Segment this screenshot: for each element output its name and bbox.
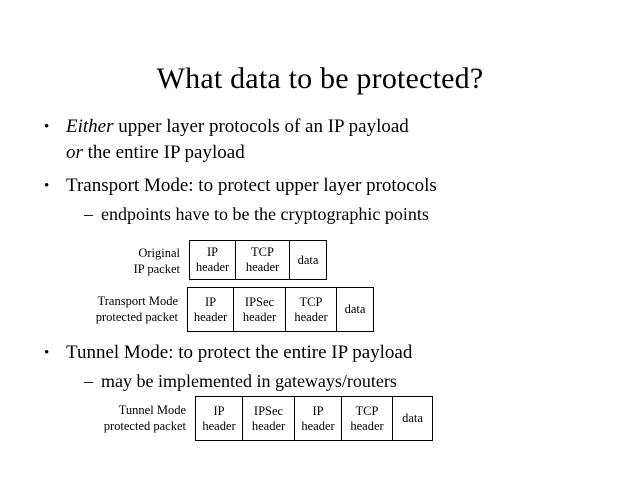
packet-diagram-original-label: Original IP packet	[14, 240, 189, 277]
packet-cell-line1: IP	[213, 404, 224, 419]
packet-cell-outer-ip-header: IP header	[195, 396, 243, 441]
slide-canvas: What data to be protected? • Either uppe…	[0, 0, 640, 480]
bullet-item-either: • Either upper layer protocols of an IP …	[44, 114, 604, 166]
packet-cell-line1: TCP	[356, 404, 379, 419]
packet-label-line2: protected packet	[14, 418, 186, 434]
bullet-item-tunnel-mode: • Tunnel Mode: to protect the entire IP …	[44, 340, 604, 366]
packet-cell-line1: data	[298, 253, 319, 268]
bullet-either-line1-rest: upper layer protocols of an IP payload	[114, 116, 409, 137]
packet-cell-tcp-header: TCP header	[341, 396, 393, 441]
bullet-marker-icon: •	[44, 114, 66, 140]
packet-cell-inner-ip-header: IP header	[294, 396, 342, 441]
packet-cell-line2: header	[194, 310, 227, 325]
bullet-item-transport-mode-text: Transport Mode: to protect upper layer p…	[66, 173, 604, 199]
bullet-item-either-text: Either upper layer protocols of an IP pa…	[66, 114, 604, 166]
bullet-either-line2-italic: or	[66, 142, 83, 163]
sub-bullet-item-gateways-text: may be implemented in gateways/routers	[101, 369, 624, 394]
packet-diagram-transport-mode-table: IP header IPSec header TCP header data	[187, 287, 374, 332]
packet-label-line1: Tunnel Mode	[14, 402, 186, 418]
packet-cell-line2: header	[246, 260, 279, 275]
dash-marker-icon: –	[84, 369, 101, 394]
packet-cell-line2: header	[243, 310, 276, 325]
packet-cell-line1: IP	[312, 404, 323, 419]
packet-label-line1: Original	[14, 245, 180, 261]
packet-cell-tcp-header: TCP header	[235, 240, 290, 280]
sub-bullet-item-endpoints-text: endpoints have to be the cryptographic p…	[101, 202, 624, 227]
packet-cell-line2: header	[294, 310, 327, 325]
packet-label-line2: IP packet	[14, 261, 180, 277]
packet-cell-line2: header	[202, 419, 235, 434]
packet-cell-line1: IP	[205, 295, 216, 310]
packet-cell-line1: TCP	[251, 245, 274, 260]
packet-diagram-tunnel-mode-label: Tunnel Mode protected packet	[14, 396, 195, 434]
packet-cell-line2: header	[350, 419, 383, 434]
packet-cell-ipsec-header: IPSec header	[233, 287, 286, 332]
packet-cell-line2: header	[196, 260, 229, 275]
packet-cell-tcp-header: TCP header	[285, 287, 337, 332]
packet-label-line2: protected packet	[14, 309, 178, 325]
packet-cell-data: data	[392, 396, 433, 441]
packet-diagram-tunnel-mode-table: IP header IPSec header IP header TCP hea…	[195, 396, 433, 441]
packet-cell-line2: header	[252, 419, 285, 434]
bullet-marker-icon: •	[44, 173, 66, 199]
dash-marker-icon: –	[84, 202, 101, 227]
bullet-either-lead-italic: Either	[66, 116, 114, 137]
packet-diagram-original: Original IP packet IP header TCP header …	[14, 240, 327, 280]
packet-diagram-transport-mode-label: Transport Mode protected packet	[14, 287, 187, 325]
packet-cell-ip-header: IP header	[189, 240, 236, 280]
packet-cell-line1: TCP	[300, 295, 323, 310]
bullet-item-tunnel-mode-text: Tunnel Mode: to protect the entire IP pa…	[66, 340, 604, 366]
packet-cell-line2: header	[301, 419, 334, 434]
page-title: What data to be protected?	[0, 62, 640, 96]
packet-cell-line1: data	[402, 411, 423, 426]
packet-diagram-original-table: IP header TCP header data	[189, 240, 327, 280]
packet-cell-ipsec-header: IPSec header	[242, 396, 295, 441]
packet-cell-data: data	[336, 287, 374, 332]
packet-cell-ip-header: IP header	[187, 287, 234, 332]
packet-diagram-tunnel-mode: Tunnel Mode protected packet IP header I…	[14, 396, 433, 441]
packet-diagram-transport-mode: Transport Mode protected packet IP heade…	[14, 287, 374, 332]
packet-label-line1: Transport Mode	[14, 293, 178, 309]
sub-bullet-item-gateways: – may be implemented in gateways/routers	[84, 369, 624, 394]
packet-cell-line1: IPSec	[254, 404, 283, 419]
bullet-item-transport-mode: • Transport Mode: to protect upper layer…	[44, 173, 604, 199]
packet-cell-line1: IP	[207, 245, 218, 260]
packet-cell-data: data	[289, 240, 327, 280]
bullet-marker-icon: •	[44, 340, 66, 366]
sub-bullet-item-endpoints: – endpoints have to be the cryptographic…	[84, 202, 624, 227]
bullet-either-line2-rest: the entire IP payload	[83, 142, 245, 163]
packet-cell-line1: IPSec	[245, 295, 274, 310]
packet-cell-line1: data	[345, 302, 366, 317]
